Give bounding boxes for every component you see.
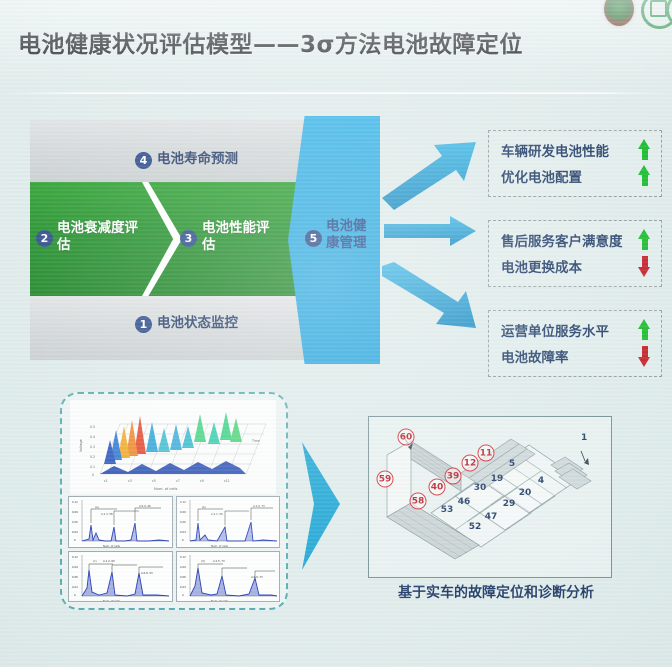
svg-text:0.2: 0.2 — [90, 455, 95, 459]
svg-text:0.03: 0.03 — [72, 585, 78, 589]
organization-seal-logo — [604, 0, 634, 26]
svg-text:c5: c5 — [152, 479, 156, 483]
mini-plot-2: (b)A:1.1, 59 A:1.0, 73 0.120.090.06 0.03… — [176, 496, 281, 548]
svg-text:Voltage: Voltage — [79, 439, 83, 452]
svg-text:0.03: 0.03 — [180, 585, 186, 589]
svg-text:(d): (d) — [201, 559, 205, 563]
cell-46-label: 46 — [458, 497, 471, 507]
svg-text:c3: c3 — [128, 479, 132, 483]
outcome-text: 电池更换成本 — [501, 256, 582, 276]
svg-text:A:1.2, 60: A:1.2, 60 — [103, 559, 115, 563]
trend-up-icon — [638, 319, 651, 341]
battery-health-process-diagram: 4 电池寿命预测 1 电池状态监控 2 电池衰减度评估 3 电池性能评估 5 电… — [30, 120, 340, 360]
after-sales-benefits-box: 售后服务客户满意度 电池更换成本 — [488, 220, 662, 287]
outcome-row: 电池故障率 — [501, 343, 651, 369]
sidebar-item-label-step-2: 电池衰减度评估 — [57, 220, 145, 254]
sidebar-item-label-step-4: 电池寿命预测 — [157, 151, 238, 168]
arrow-to-rnd-icon — [380, 140, 480, 210]
sidebar-item-label-step-1: 电池状态监控 — [157, 315, 238, 332]
svg-text:0.09: 0.09 — [72, 565, 78, 569]
svg-text:(a): (a) — [95, 505, 99, 509]
cell-40-badge[interactable]: 40 — [429, 479, 446, 496]
svg-text:A:0.9, 73: A:0.9, 73 — [251, 575, 263, 579]
analysis-chart-panel: 0.50.40.3 0.20.10 c1c3c5 c7c9c11 Num. of… — [60, 392, 288, 610]
svg-text:0.06: 0.06 — [72, 520, 78, 524]
battery-fault-location-map: 60 59 58 40 39 12 11 5 19 30 46 53 52 47… — [368, 416, 612, 578]
svg-text:A:1.1, 59: A:1.1, 59 — [211, 512, 223, 516]
trend-up-icon — [638, 139, 651, 161]
svg-text:Num. of cells: Num. of cells — [211, 544, 229, 548]
cell-20-label: 20 — [519, 488, 532, 498]
svg-text:c1: c1 — [104, 479, 108, 483]
svg-text:0.5: 0.5 — [90, 425, 95, 429]
operations-benefits-box: 运营单位服务水平 电池故障率 — [488, 310, 662, 377]
svg-text:0.03: 0.03 — [180, 530, 186, 534]
trend-up-icon — [638, 165, 651, 187]
svg-text:c7: c7 — [176, 479, 180, 483]
svg-text:Time: Time — [251, 439, 260, 443]
cell-52-label: 52 — [469, 522, 482, 532]
svg-text:(c): (c) — [93, 559, 96, 563]
svg-text:Num. of cells: Num. of cells — [103, 544, 121, 548]
step-4-badge: 4 — [135, 152, 152, 169]
trend-down-icon — [638, 255, 651, 277]
mini-plot-1: (a)A:1.3, 58 A:0.9, 46 0.120.090.06 0.03… — [68, 496, 173, 548]
svg-text:0.12: 0.12 — [180, 500, 186, 504]
svg-text:(b): (b) — [202, 505, 206, 509]
outcome-text: 运营单位服务水平 — [501, 320, 609, 340]
outcome-row: 电池更换成本 — [501, 253, 651, 279]
svg-text:0.09: 0.09 — [72, 510, 78, 514]
svg-text:Num. of cells: Num. of cells — [211, 599, 229, 603]
svg-text:0: 0 — [182, 538, 184, 542]
sidebar-item-label-step-3: 电池性能评估 — [202, 220, 274, 254]
cell-19-label: 19 — [491, 474, 504, 484]
cell-12-badge[interactable]: 12 — [462, 455, 479, 472]
svg-text:0.3: 0.3 — [90, 445, 95, 449]
step-3-badge: 3 — [180, 230, 197, 247]
cell-60-badge[interactable]: 60 — [398, 429, 415, 446]
svg-text:c9: c9 — [200, 479, 204, 483]
svg-text:0.09: 0.09 — [180, 565, 186, 569]
svg-text:0.06: 0.06 — [72, 575, 78, 579]
cell-53-label: 53 — [441, 505, 454, 515]
trend-up-icon — [638, 229, 651, 251]
outcome-row: 优化电池配置 — [501, 163, 651, 189]
svg-text:c11: c11 — [224, 479, 230, 483]
svg-text:0: 0 — [182, 593, 184, 597]
cell-1-lead-label: 1 — [581, 433, 587, 443]
mini-plot-3: (c)A:1.2, 60 A:0.8, 53 0.120.090.06 0.03… — [68, 551, 173, 603]
svg-text:0.4: 0.4 — [90, 435, 95, 439]
svg-text:0.12: 0.12 — [72, 500, 78, 504]
svg-text:0: 0 — [74, 538, 76, 542]
svg-text:Num. of cells: Num. of cells — [154, 487, 178, 491]
battery-map-caption: 基于实车的故障定位和诊断分析 — [366, 582, 626, 602]
svg-text:A:1.0, 73: A:1.0, 73 — [253, 504, 265, 508]
outcome-row: 车辆研发电池性能 — [501, 137, 651, 163]
svg-text:0: 0 — [92, 473, 94, 477]
outcome-text: 售后服务客户满意度 — [501, 230, 623, 250]
svg-text:A:1.5, 73: A:1.5, 73 — [213, 559, 225, 563]
surface-plot-3d: 0.50.40.3 0.20.10 c1c3c5 c7c9c11 Num. of… — [70, 400, 276, 494]
svg-text:0.1: 0.1 — [90, 465, 95, 469]
mini-plot-grid: (a)A:1.3, 58 A:0.9, 46 0.120.090.06 0.03… — [68, 496, 280, 602]
step-5-badge: 5 — [305, 230, 322, 247]
trend-down-icon — [638, 345, 651, 367]
slide-canvas: 电池健康状况评估模型——3σ方法电池故障定位 4 电池寿命预测 1 电池状态监控… — [0, 0, 672, 667]
cell-5-label: 5 — [509, 459, 515, 469]
mini-plot-4: (d)A:1.5, 73 A:0.9, 73 0.120.090.06 0.03… — [176, 551, 281, 603]
cell-47-label: 47 — [485, 512, 498, 522]
svg-text:A:0.9, 46: A:0.9, 46 — [139, 504, 151, 508]
cell-39-badge[interactable]: 39 — [445, 468, 462, 485]
step-2-badge: 2 — [36, 230, 53, 247]
chevron-divider-icon — [142, 182, 182, 296]
svg-text:0.12: 0.12 — [72, 555, 78, 559]
svg-text:0.06: 0.06 — [180, 520, 186, 524]
cell-30-label: 30 — [474, 483, 487, 493]
step-1-badge: 1 — [135, 316, 152, 333]
outcome-row: 售后服务客户满意度 — [501, 227, 651, 253]
flow-chevron-icon — [300, 442, 342, 576]
sidebar-item-label-step-5: 电池健康管理 — [326, 218, 376, 252]
outcome-text: 车辆研发电池性能 — [501, 140, 609, 160]
svg-text:A:1.3, 58: A:1.3, 58 — [101, 512, 113, 516]
svg-text:0: 0 — [74, 593, 76, 597]
cell-29-label: 29 — [503, 499, 516, 509]
cell-59-badge[interactable]: 59 — [377, 471, 394, 488]
outcome-arrow-group — [380, 140, 490, 330]
rnd-benefits-box: 车辆研发电池性能 优化电池配置 — [488, 130, 662, 197]
svg-text:A:0.8, 53: A:0.8, 53 — [141, 571, 153, 575]
cell-4-label: 4 — [538, 476, 544, 486]
svg-text:0.12: 0.12 — [180, 555, 186, 559]
svg-text:0.09: 0.09 — [180, 510, 186, 514]
svg-text:0.03: 0.03 — [72, 530, 78, 534]
page-title: 电池健康状况评估模型——3σ方法电池故障定位 — [18, 25, 618, 59]
title-divider — [0, 92, 672, 94]
outcome-text: 电池故障率 — [501, 346, 569, 366]
cell-11-badge[interactable]: 11 — [478, 445, 495, 462]
cell-58-badge[interactable]: 58 — [410, 493, 427, 510]
outcome-text: 优化电池配置 — [501, 166, 582, 186]
outcome-row: 运营单位服务水平 — [501, 317, 651, 343]
arrow-to-operations-icon — [380, 262, 480, 330]
arrow-to-service-icon — [382, 216, 478, 246]
svg-text:Num. of cells: Num. of cells — [103, 599, 121, 603]
svg-text:0.06: 0.06 — [180, 575, 186, 579]
